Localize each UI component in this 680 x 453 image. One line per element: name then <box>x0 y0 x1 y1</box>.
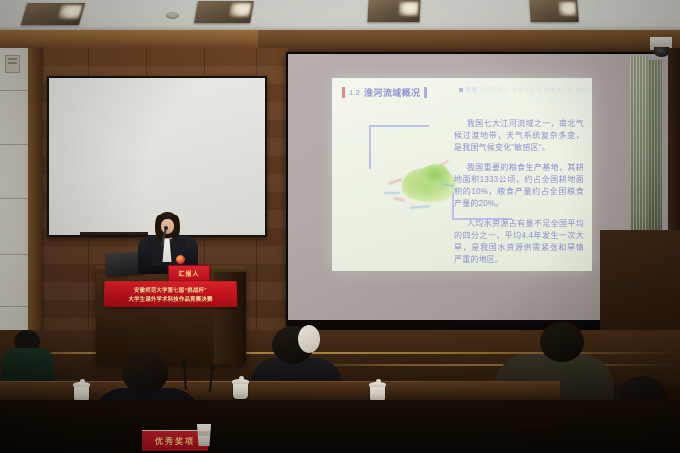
slide-nav-bar: 背景 研究区概况 数据与方法 结果与分析 结论 <box>459 86 588 94</box>
corsage-icon <box>176 255 185 264</box>
ceiling-light-1 <box>21 3 85 25</box>
nav-item-4[interactable]: 结论 <box>576 86 588 94</box>
gold-trim-line-secondary <box>300 364 680 366</box>
audience-name-placard-label: 优秀奖项 <box>155 436 195 447</box>
slide-title: 淮河流域概况 <box>364 86 420 99</box>
wall-switch-plate[interactable] <box>5 55 20 73</box>
presenter-placard-label: 汇报人 <box>178 269 199 278</box>
judge-head-right <box>540 322 584 362</box>
nav-item-0[interactable]: 背景 <box>466 86 478 94</box>
wood-pillar <box>28 48 42 370</box>
ceiling-light-4 <box>529 0 579 22</box>
nav-item-2[interactable]: 数据与方法 <box>512 86 541 94</box>
slide-paragraph-climate: 我国七大江河流域之一，南北气候过渡地带，天气系统复杂多变，是我国气候变化“敏感区… <box>454 118 584 154</box>
screen-bottom-rod <box>80 232 148 235</box>
banner-line-1: 安徽师范大学第七届“挑战杯” <box>134 286 207 294</box>
nav-item-3[interactable]: 结果与分析 <box>544 86 573 94</box>
front-table <box>0 400 680 453</box>
slide-body-text: 我国七大江河流域之一，南北气候过渡地带，天气系统复杂多变，是我国气候变化“敏感区… <box>454 118 584 266</box>
microphone-head-icon <box>164 226 168 230</box>
ceiling-light-2 <box>194 1 254 23</box>
nav-item-1[interactable]: 研究区概况 <box>480 86 509 94</box>
auditorium-presentation-scene: 1.2 淮河流域概况 背景 研究区概况 数据与方法 结果与分析 结论 <box>0 0 680 453</box>
security-camera-icon <box>654 47 669 57</box>
competition-banner: 安徽师范大学第七届“挑战杯” 大学生课外学术科技作品竞赛决赛 <box>104 281 238 307</box>
title-bar-right-icon <box>424 87 427 98</box>
blank-projection-screen <box>47 76 267 237</box>
slide-paragraph-water: 人均水资源占有量不足全国平均的四分之一，平均4.4年发生一次大旱，是我国水资源供… <box>454 218 584 266</box>
slide-section-number: 1.2 <box>349 88 360 97</box>
teacup-2 <box>233 382 248 399</box>
ceiling-light-3 <box>367 0 420 22</box>
banner-line-2: 大学生课外学术科技作品竞赛决赛 <box>128 294 212 302</box>
presenter-placard: 汇报人 <box>168 265 210 282</box>
slide-paragraph-agriculture: 我国重要的粮食生产基地，其耕地面积1333公顷，约占全国耕地面积的10%，粮食产… <box>454 162 584 210</box>
judge-hair-bun-center <box>298 325 320 353</box>
smoke-detector-icon <box>166 12 179 19</box>
judge-head-front <box>122 352 168 394</box>
presentation-slide: 1.2 淮河流域概况 背景 研究区概况 数据与方法 结果与分析 结论 <box>332 78 592 271</box>
window-curtain-secondary <box>648 60 662 240</box>
ceiling-wood-beam-dark <box>258 30 680 54</box>
title-bar-left-icon <box>342 87 345 98</box>
paper-cup <box>196 424 212 446</box>
nav-marker-icon <box>459 88 463 92</box>
